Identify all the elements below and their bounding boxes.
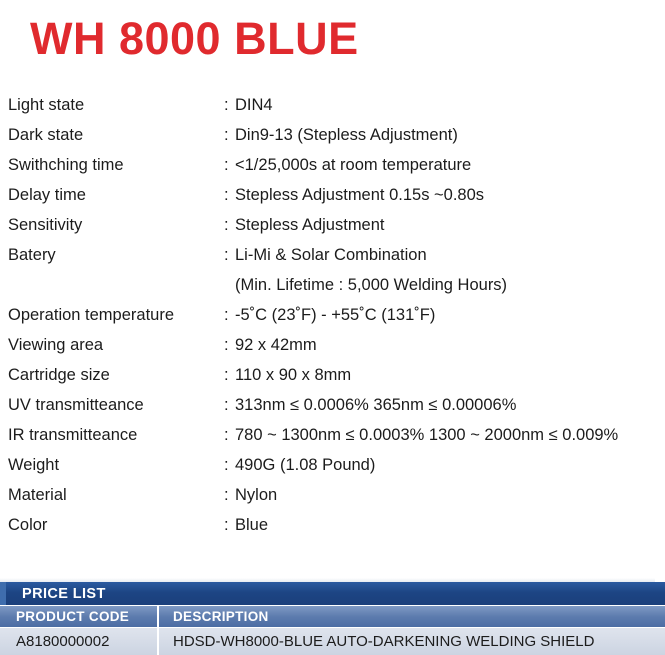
spec-colon: : [224,336,235,355]
spec-colon: : [224,306,235,325]
spec-value-text: Nylon [235,486,277,504]
spec-row: Viewing area:92 x 42mm [8,336,658,366]
spec-value-text: 92 x 42mm [235,336,317,354]
spec-value-text: Li-Mi & Solar Combination [235,246,427,264]
spec-colon: : [224,456,235,475]
spec-row: (Min. Lifetime : 5,000 Welding Hours) [8,276,658,306]
spec-value: :Stepless Adjustment [224,216,385,235]
column-header-product-code: PRODUCT CODE [0,606,157,627]
spec-label: Viewing area [8,336,224,355]
spec-label: Swithching time [8,156,224,175]
spec-value: :Li-Mi & Solar Combination [224,246,427,265]
spec-value: :DIN4 [224,96,273,115]
spec-label: Light state [8,96,224,115]
cell-product-code: A8180000002 [0,628,157,655]
table-header-row: PRODUCT CODE DESCRIPTION [0,605,665,627]
spec-label: IR transmitteance [8,426,224,445]
spec-value: :490G (1.08 Pound) [224,456,375,475]
spec-value-text: Stepless Adjustment [235,216,385,234]
spec-value-text: -5˚C (23˚F) - +55˚C (131˚F) [235,306,435,324]
spec-colon: : [224,516,235,535]
spec-label: Material [8,486,224,505]
spec-value-text: Din9-13 (Stepless Adjustment) [235,126,458,144]
spec-value: :Nylon [224,486,277,505]
spec-colon: : [224,366,235,385]
specification-list: Light state:DIN4Dark state:Din9-13 (Step… [8,96,658,546]
spec-row: Operation temperature:-5˚C (23˚F) - +55˚… [8,306,658,336]
spec-value: :<1/25,000s at room temperature [224,156,471,175]
spec-value-text: DIN4 [235,96,273,114]
spec-row: Light state:DIN4 [8,96,658,126]
spec-label: Color [8,516,224,535]
spec-row: Color:Blue [8,516,658,546]
spec-value: :Din9-13 (Stepless Adjustment) [224,126,458,145]
spec-colon: : [224,96,235,115]
spec-row: Dark state:Din9-13 (Stepless Adjustment) [8,126,658,156]
spec-value-text: (Min. Lifetime : 5,000 Welding Hours) [235,276,507,294]
spec-row: IR transmitteance:780 ~ 1300nm ≤ 0.0003%… [8,426,658,456]
spec-value-text: <1/25,000s at room temperature [235,156,471,174]
spec-label: Weight [8,456,224,475]
spec-colon: : [224,426,235,445]
spec-value: :-5˚C (23˚F) - +55˚C (131˚F) [224,306,435,325]
spec-value-text: 313nm ≤ 0.0006% 365nm ≤ 0.00006% [235,396,516,414]
price-list-title: PRICE LIST [6,586,106,602]
spec-value-text: Blue [235,516,268,534]
spec-row: Batery:Li-Mi & Solar Combination [8,246,658,276]
spec-colon: : [224,186,235,205]
spec-value-text: 490G (1.08 Pound) [235,456,375,474]
spec-value: :780 ~ 1300nm ≤ 0.0003% 1300 ~ 2000nm ≤ … [224,426,618,445]
cell-description: HDSD-WH8000-BLUE AUTO-DARKENING WELDING … [157,628,665,655]
page-title: WH 8000 BLUE [30,16,359,61]
spec-value: (Min. Lifetime : 5,000 Welding Hours) [224,276,507,295]
spec-row: Delay time:Stepless Adjustment 0.15s ~0.… [8,186,658,216]
spec-label: Batery [8,246,224,265]
spec-value-text: 780 ~ 1300nm ≤ 0.0003% 1300 ~ 2000nm ≤ 0… [235,426,618,444]
spec-colon: : [224,246,235,265]
spec-value-text: 110 x 90 x 8mm [235,366,351,384]
spec-label: Delay time [8,186,224,205]
price-list-table: PRICE LIST PRODUCT CODE DESCRIPTION A818… [0,578,665,655]
column-header-description: DESCRIPTION [157,606,665,627]
spec-row: Cartridge size:110 x 90 x 8mm [8,366,658,396]
spec-row: Material:Nylon [8,486,658,516]
spec-colon: : [224,126,235,145]
table-body: A8180000002HDSD-WH8000-BLUE AUTO-DARKENI… [0,627,665,655]
spec-colon: : [224,216,235,235]
spec-value: :Blue [224,516,268,535]
spec-colon: : [224,486,235,505]
spec-colon: : [224,156,235,175]
spec-value-text: Stepless Adjustment 0.15s ~0.80s [235,186,484,204]
spec-row: UV transmitteance:313nm ≤ 0.0006% 365nm … [8,396,658,426]
spec-label: Operation temperature [8,306,224,325]
spec-value: :313nm ≤ 0.0006% 365nm ≤ 0.00006% [224,396,516,415]
spec-row: Sensitivity:Stepless Adjustment [8,216,658,246]
spec-label: Sensitivity [8,216,224,235]
price-list-title-bar: PRICE LIST [0,582,665,605]
spec-colon: : [224,396,235,415]
spec-value: :110 x 90 x 8mm [224,366,351,385]
spec-row: Swithching time:<1/25,000s at room tempe… [8,156,658,186]
spec-label: Cartridge size [8,366,224,385]
spec-label: UV transmitteance [8,396,224,415]
spec-value: :92 x 42mm [224,336,317,355]
spec-row: Weight:490G (1.08 Pound) [8,456,658,486]
table-row[interactable]: A8180000002HDSD-WH8000-BLUE AUTO-DARKENI… [0,627,665,655]
spec-label: Dark state [8,126,224,145]
spec-value: :Stepless Adjustment 0.15s ~0.80s [224,186,484,205]
